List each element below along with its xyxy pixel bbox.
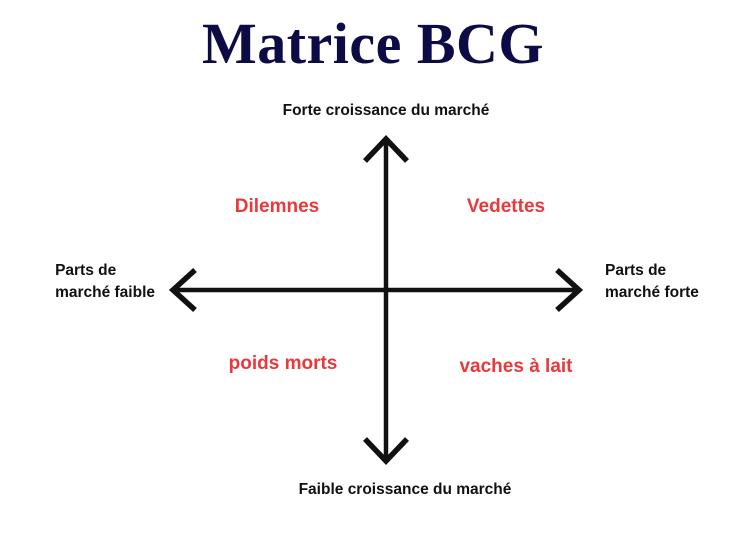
quadrant-label-vedettes: Vedettes — [467, 195, 545, 219]
axis-label-share-high-line2: marché forte — [605, 282, 699, 304]
quadrant-label-dilemnes: Dilemnes — [235, 195, 319, 219]
quadrant-label-poids-morts: poids morts — [229, 352, 338, 376]
axis-label-share-low: Parts de marché faible — [55, 260, 155, 304]
axis-label-share-high: Parts de marché forte — [605, 260, 699, 304]
axis-label-share-low-line2: marché faible — [55, 282, 155, 304]
axis-label-growth-high: Forte croissance du marché — [0, 100, 746, 122]
quadrant-label-vaches-a-lait: vaches à lait — [459, 355, 572, 379]
axis-label-growth-low: Faible croissance du marché — [0, 479, 746, 501]
axis-label-share-high-line1: Parts de — [605, 260, 699, 282]
axis-label-share-low-line1: Parts de — [55, 260, 155, 282]
bcg-matrix-diagram: Matrice BCG Forte croissance du marché F… — [0, 0, 746, 535]
